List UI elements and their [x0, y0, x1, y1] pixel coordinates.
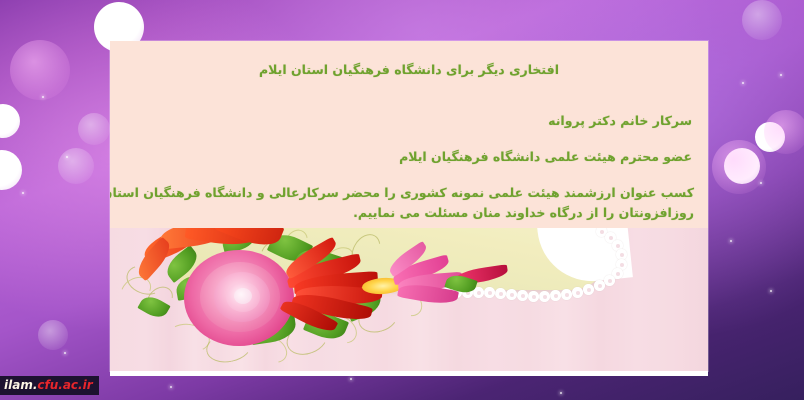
card-affiliation: عضو محترم هیئت علمی دانشگاه فرهنگیان ایل… — [122, 149, 696, 164]
watermark-prefix: ilam. — [4, 378, 37, 392]
bokeh-orb — [712, 140, 766, 194]
sparkle — [350, 378, 352, 380]
bokeh-orb — [724, 148, 760, 184]
floral-illustration — [110, 228, 708, 371]
card-body-line-1: کسب عنوان ارزشمند هیئت علمی نمونه کشوری … — [122, 183, 694, 203]
sparkle — [66, 156, 68, 158]
sparkle — [170, 386, 172, 388]
slide-background: افتخاری دیگر برای دانشگاه فرهنگیان استان… — [0, 0, 804, 400]
sparkle — [760, 182, 762, 184]
card-title: افتخاری دیگر برای دانشگاه فرهنگیان استان… — [122, 62, 696, 77]
card-text-area: افتخاری دیگر برای دانشگاه فرهنگیان استان… — [110, 41, 708, 228]
card-body-line-2: روزافزونتان را از درگاه خداوند منان مسئل… — [122, 203, 694, 223]
sparkle — [730, 240, 732, 242]
sparkle — [42, 96, 44, 98]
watermark-domain: cfu.ac.ir — [37, 378, 92, 392]
sparkle — [22, 192, 24, 194]
bokeh-orb — [10, 40, 70, 100]
sparkle — [64, 352, 66, 354]
bokeh-orb — [764, 110, 804, 154]
bokeh-orb — [742, 0, 782, 40]
sparkle — [742, 82, 744, 84]
bokeh-orb — [38, 320, 68, 350]
bokeh-orb — [78, 113, 110, 145]
bokeh-orb — [58, 148, 94, 184]
rose-flower — [234, 288, 252, 304]
card-salutation: سرکار خانم دکتر پروانه — [122, 113, 696, 128]
bokeh-orb — [0, 104, 20, 138]
sparkle — [780, 74, 782, 76]
site-watermark: ilam.cfu.ac.ir — [0, 376, 99, 395]
sparkle — [770, 290, 772, 292]
card-body: کسب عنوان ارزشمند هیئت علمی نمونه کشوری … — [122, 183, 696, 223]
sparkle — [560, 392, 562, 394]
bokeh-orb — [755, 122, 785, 152]
bokeh-orb — [0, 150, 22, 190]
card-bottom-edge — [110, 371, 708, 376]
greeting-card: افتخاری دیگر برای دانشگاه فرهنگیان استان… — [110, 41, 708, 371]
